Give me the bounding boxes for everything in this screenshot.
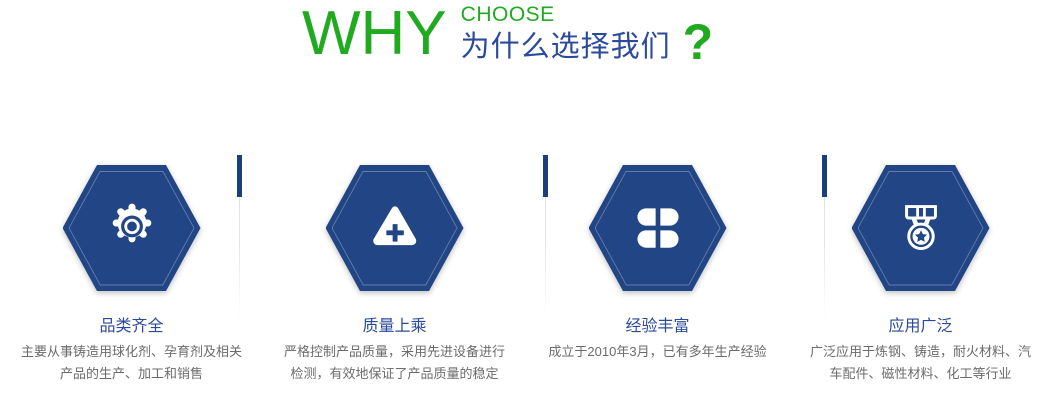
feature-card-description: 成立于2010年3月，已有多年生产经验 [526,341,789,363]
feature-card-title: 品类齐全 [0,316,263,338]
gear-icon [104,200,160,256]
triangle-plus-icon [367,200,423,256]
hexagon-badge [852,165,990,291]
feature-card-description: 广泛应用于炼钢、铸造，耐火材料、汽车配件、磁性材料、化工等行业 [789,341,1052,385]
feature-cards-row: 品类齐全 主要从事铸造用球化剂、孕育剂及相关产品的生产、加工和销售 质量上乘 严… [0,150,1055,416]
hexagon-badge [326,165,464,291]
header-chinese-title: 为什么选择我们 [461,28,671,66]
feature-card[interactable]: 质量上乘 严格控制产品质量，采用先进设备进行检测，有效地保证了产品质量的稳定 [263,150,526,416]
header-choose-word: CHOOSE [461,2,671,27]
header-title-group: WHY CHOOSE 为什么选择我们 ? [302,0,713,72]
header-text-stack: CHOOSE 为什么选择我们 [461,2,671,66]
header-question-mark: ? [683,12,714,72]
feature-card[interactable]: 应用广泛 广泛应用于炼钢、铸造，耐火材料、汽车配件、磁性材料、化工等行业 [789,150,1052,416]
hexagon-badge [589,165,727,291]
clover-icon [630,200,686,256]
page-header: WHY CHOOSE 为什么选择我们 ? [0,0,1055,96]
feature-card-title: 经验丰富 [526,316,789,338]
feature-card-description: 主要从事铸造用球化剂、孕育剂及相关产品的生产、加工和销售 [0,341,263,385]
header-why-word: WHY [302,0,447,70]
medal-icon [893,200,949,256]
feature-card-title: 应用广泛 [789,316,1052,338]
feature-card-description: 严格控制产品质量，采用先进设备进行检测，有效地保证了产品质量的稳定 [263,341,526,385]
feature-card[interactable]: 品类齐全 主要从事铸造用球化剂、孕育剂及相关产品的生产、加工和销售 [0,150,263,416]
hexagon-badge [63,165,201,291]
feature-card[interactable]: 经验丰富 成立于2010年3月，已有多年生产经验 [526,150,789,416]
feature-card-title: 质量上乘 [263,316,526,338]
